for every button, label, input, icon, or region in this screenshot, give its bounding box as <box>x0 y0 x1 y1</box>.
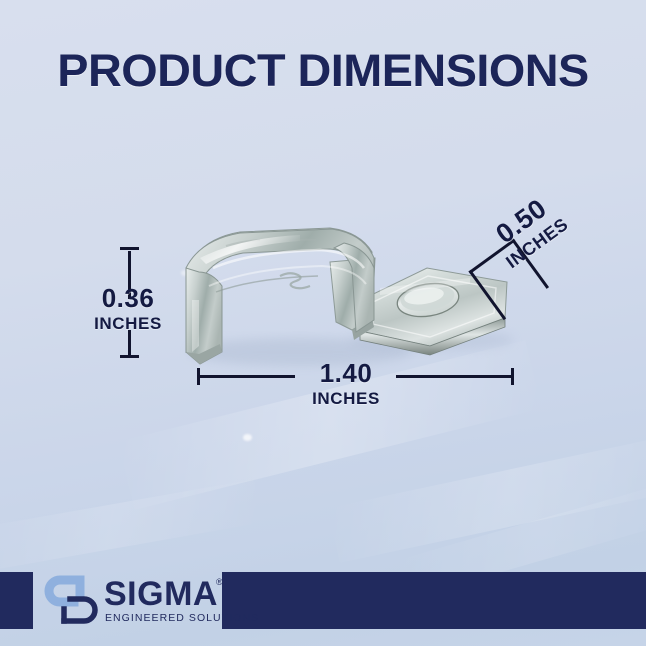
registered-mark: ® <box>216 578 223 587</box>
infographic-canvas: PRODUCT DIMENSIONS <box>0 0 646 646</box>
brand-tagline: ENGINEERED SOLUTIONS <box>105 612 259 624</box>
sigma-logo-icon <box>44 572 100 629</box>
sigma-logo-text: SIGMA ® ENGINEERED SOLUTIONS <box>104 576 234 626</box>
footer: SIGMA ® ENGINEERED SOLUTIONS <box>0 0 646 646</box>
footer-bar-right <box>222 572 646 629</box>
brand-name: SIGMA <box>104 576 218 612</box>
footer-bar-left <box>0 572 33 629</box>
